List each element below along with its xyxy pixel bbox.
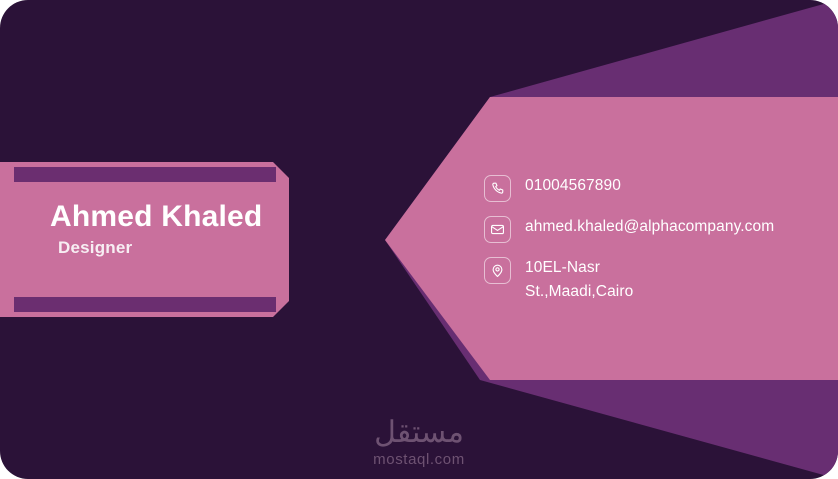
location-pin-icon	[484, 257, 511, 284]
contact-row-email: ahmed.khaled@alphacompany.com	[484, 215, 834, 243]
contact-row-address: 10EL-Nasr St.,Maadi,Cairo	[484, 256, 834, 304]
contact-list: 01004567890 ahmed.khaled@alphacompany.co…	[484, 174, 834, 317]
name-plate-bottom-bar	[14, 297, 276, 312]
envelope-icon	[484, 216, 511, 243]
business-card: Ahmed Khaled Designer 01004567890 ahmed.…	[0, 0, 838, 479]
street-address: 10EL-Nasr St.,Maadi,Cairo	[525, 256, 633, 304]
phone-number: 01004567890	[525, 174, 621, 198]
name-text-group: Ahmed Khaled Designer	[50, 200, 320, 258]
contact-row-phone: 01004567890	[484, 174, 834, 202]
phone-icon	[484, 175, 511, 202]
email-address: ahmed.khaled@alphacompany.com	[525, 215, 774, 239]
person-role: Designer	[58, 239, 320, 258]
person-name: Ahmed Khaled	[50, 200, 320, 233]
name-plate-top-bar	[14, 167, 276, 182]
